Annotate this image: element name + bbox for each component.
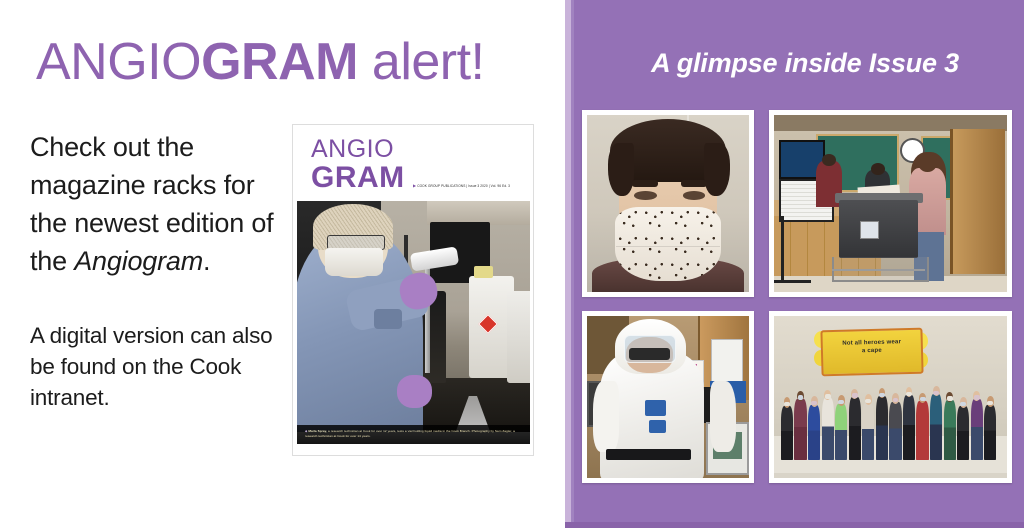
pb-bin-label [860,221,878,239]
pc-coverall-arm-right [710,381,736,452]
paragraph-digital-version: A digital version can also be found on t… [30,320,280,413]
pc-suit-badge-upper [645,400,666,416]
title-part-gram: GRAM [201,33,358,91]
paragraph-magazine-racks: Check out the magazine racks for the new… [30,128,280,280]
pd-person-body [944,400,956,460]
pc-coverall-arm-left [593,381,619,452]
pd-person-face-mask [974,395,980,399]
pd-person-body [849,397,861,460]
magazine-logo-line-1: ANGIO [311,137,405,162]
photo-team-group: Not all heroes wear a cape [774,316,1007,478]
pd-person-face-mask [852,393,858,397]
strapline-text: COOK GROUP PUBLICATIONS | Issue 3 2020 |… [417,184,510,188]
strapline-triangle-icon: ▶ [413,183,416,188]
pd-person-face-mask [947,396,953,400]
pb-grey-bin [839,200,918,258]
paragraph-1-text-b: . [203,246,210,276]
caption-line-1: a research technician at Cook for over 1… [327,429,471,433]
pd-person-body [903,395,915,460]
caption-subject-name: Marla Spray, [308,429,327,433]
pa-mask-pleat [616,246,720,248]
pa-eyebrow-right [681,180,707,186]
pa-eyebrow-left [632,180,658,186]
magazine-logo: ANGIO GRAM [311,137,405,193]
left-body-copy: Check out the magazine racks for the new… [30,128,280,413]
pa-eye-left [634,191,657,200]
pd-person-body [930,394,942,460]
photo-ppe-suit [587,316,749,478]
title-part-angio: ANGIO [36,33,201,91]
pd-person-body [916,401,928,460]
cover-chemical-jug-2 [507,291,530,383]
pd-person-body [984,405,996,460]
photo-supply-drive [774,115,1007,292]
panel-bottom-edge [565,522,1024,528]
pc-suit-badge-lower [649,420,667,433]
pb-cart-shelf [832,269,925,271]
pd-person-face-mask [933,391,939,395]
magazine-cover-inner: ◆ Marla Spray, a research technician at … [297,129,530,444]
paragraph-1-italic-title: Angiogram [74,246,203,276]
pc-wall-sign-right [711,339,742,383]
angiogram-alert-graphic: ANGIOGRAM alert! Check out the magazine … [0,0,1024,528]
photo-grid: Not all heroes wear a cape [582,110,1012,483]
pd-person-face-mask [920,397,926,401]
magazine-logo-line-2: GRAM [311,163,405,193]
pd-group-of-employees [779,366,1003,460]
cover-purple-glove-lower [397,375,432,408]
magazine-strapline: ▶ COOK GROUP PUBLICATIONS | Issue 3 2020… [413,181,523,190]
pa-eye-right [683,191,706,200]
panel-left-shadow-edge [571,0,574,528]
pd-person-body [971,399,983,460]
pd-banner-line-2: a cape [822,345,920,356]
pa-cloth-face-mask [615,207,722,281]
pb-person-3-head [918,154,937,172]
cover-face-mask [325,248,383,276]
photo-card-ppe-suit [582,311,754,483]
pd-person-face-mask [784,402,790,406]
pc-black-belt [606,449,690,460]
pd-person-body [876,396,888,460]
magazine-cover-photo: ◆ Marla Spray, a research technician at … [297,189,530,444]
pb-monitor-stand [781,216,784,280]
photo-card-masked-employee [582,110,754,297]
panel-heading: A glimpse inside Issue 3 [605,48,1005,79]
pd-person-face-mask [798,395,804,399]
pb-monitor-base [774,280,811,283]
pa-hair-right [704,143,730,196]
pd-person-face-mask [879,393,885,397]
pb-person-2-head [871,163,885,175]
pd-person-body [862,403,874,460]
cover-jug-cap [474,266,493,279]
title-part-alert: alert! [358,33,485,91]
photo-masked-employee [587,115,749,292]
right-panel: A glimpse inside Issue 3 [565,0,1024,528]
magazine-cover-thumbnail: ◆ Marla Spray, a research technician at … [292,124,534,456]
page-title: ANGIOGRAM alert! [36,32,485,92]
pb-person-1-head [822,154,836,166]
cover-sleeve-cuff [374,309,402,329]
pd-person-face-mask [906,392,912,396]
pd-person-body [808,405,820,460]
pd-person-face-mask [825,394,831,398]
pd-person-body [835,404,847,460]
pb-wooden-door [950,129,1004,274]
pc-respirator-mask [629,348,670,359]
pd-person-body [794,399,806,460]
pd-person-body [889,402,901,460]
pd-person-body [822,398,834,460]
pa-hair-left [608,143,634,196]
pd-banner-text: Not all heroes wear a cape [822,337,920,356]
pd-person-body [957,406,969,460]
photo-card-team-group: Not all heroes wear a cape [769,311,1012,483]
photo-card-supply-drive [769,110,1012,297]
magazine-photo-caption: ◆ Marla Spray, a research technician at … [297,425,530,444]
pd-baseboard [774,473,1007,478]
left-panel: ANGIOGRAM alert! Check out the magazine … [0,0,565,528]
pd-person-face-mask [811,401,817,405]
pd-person-body [781,406,793,460]
